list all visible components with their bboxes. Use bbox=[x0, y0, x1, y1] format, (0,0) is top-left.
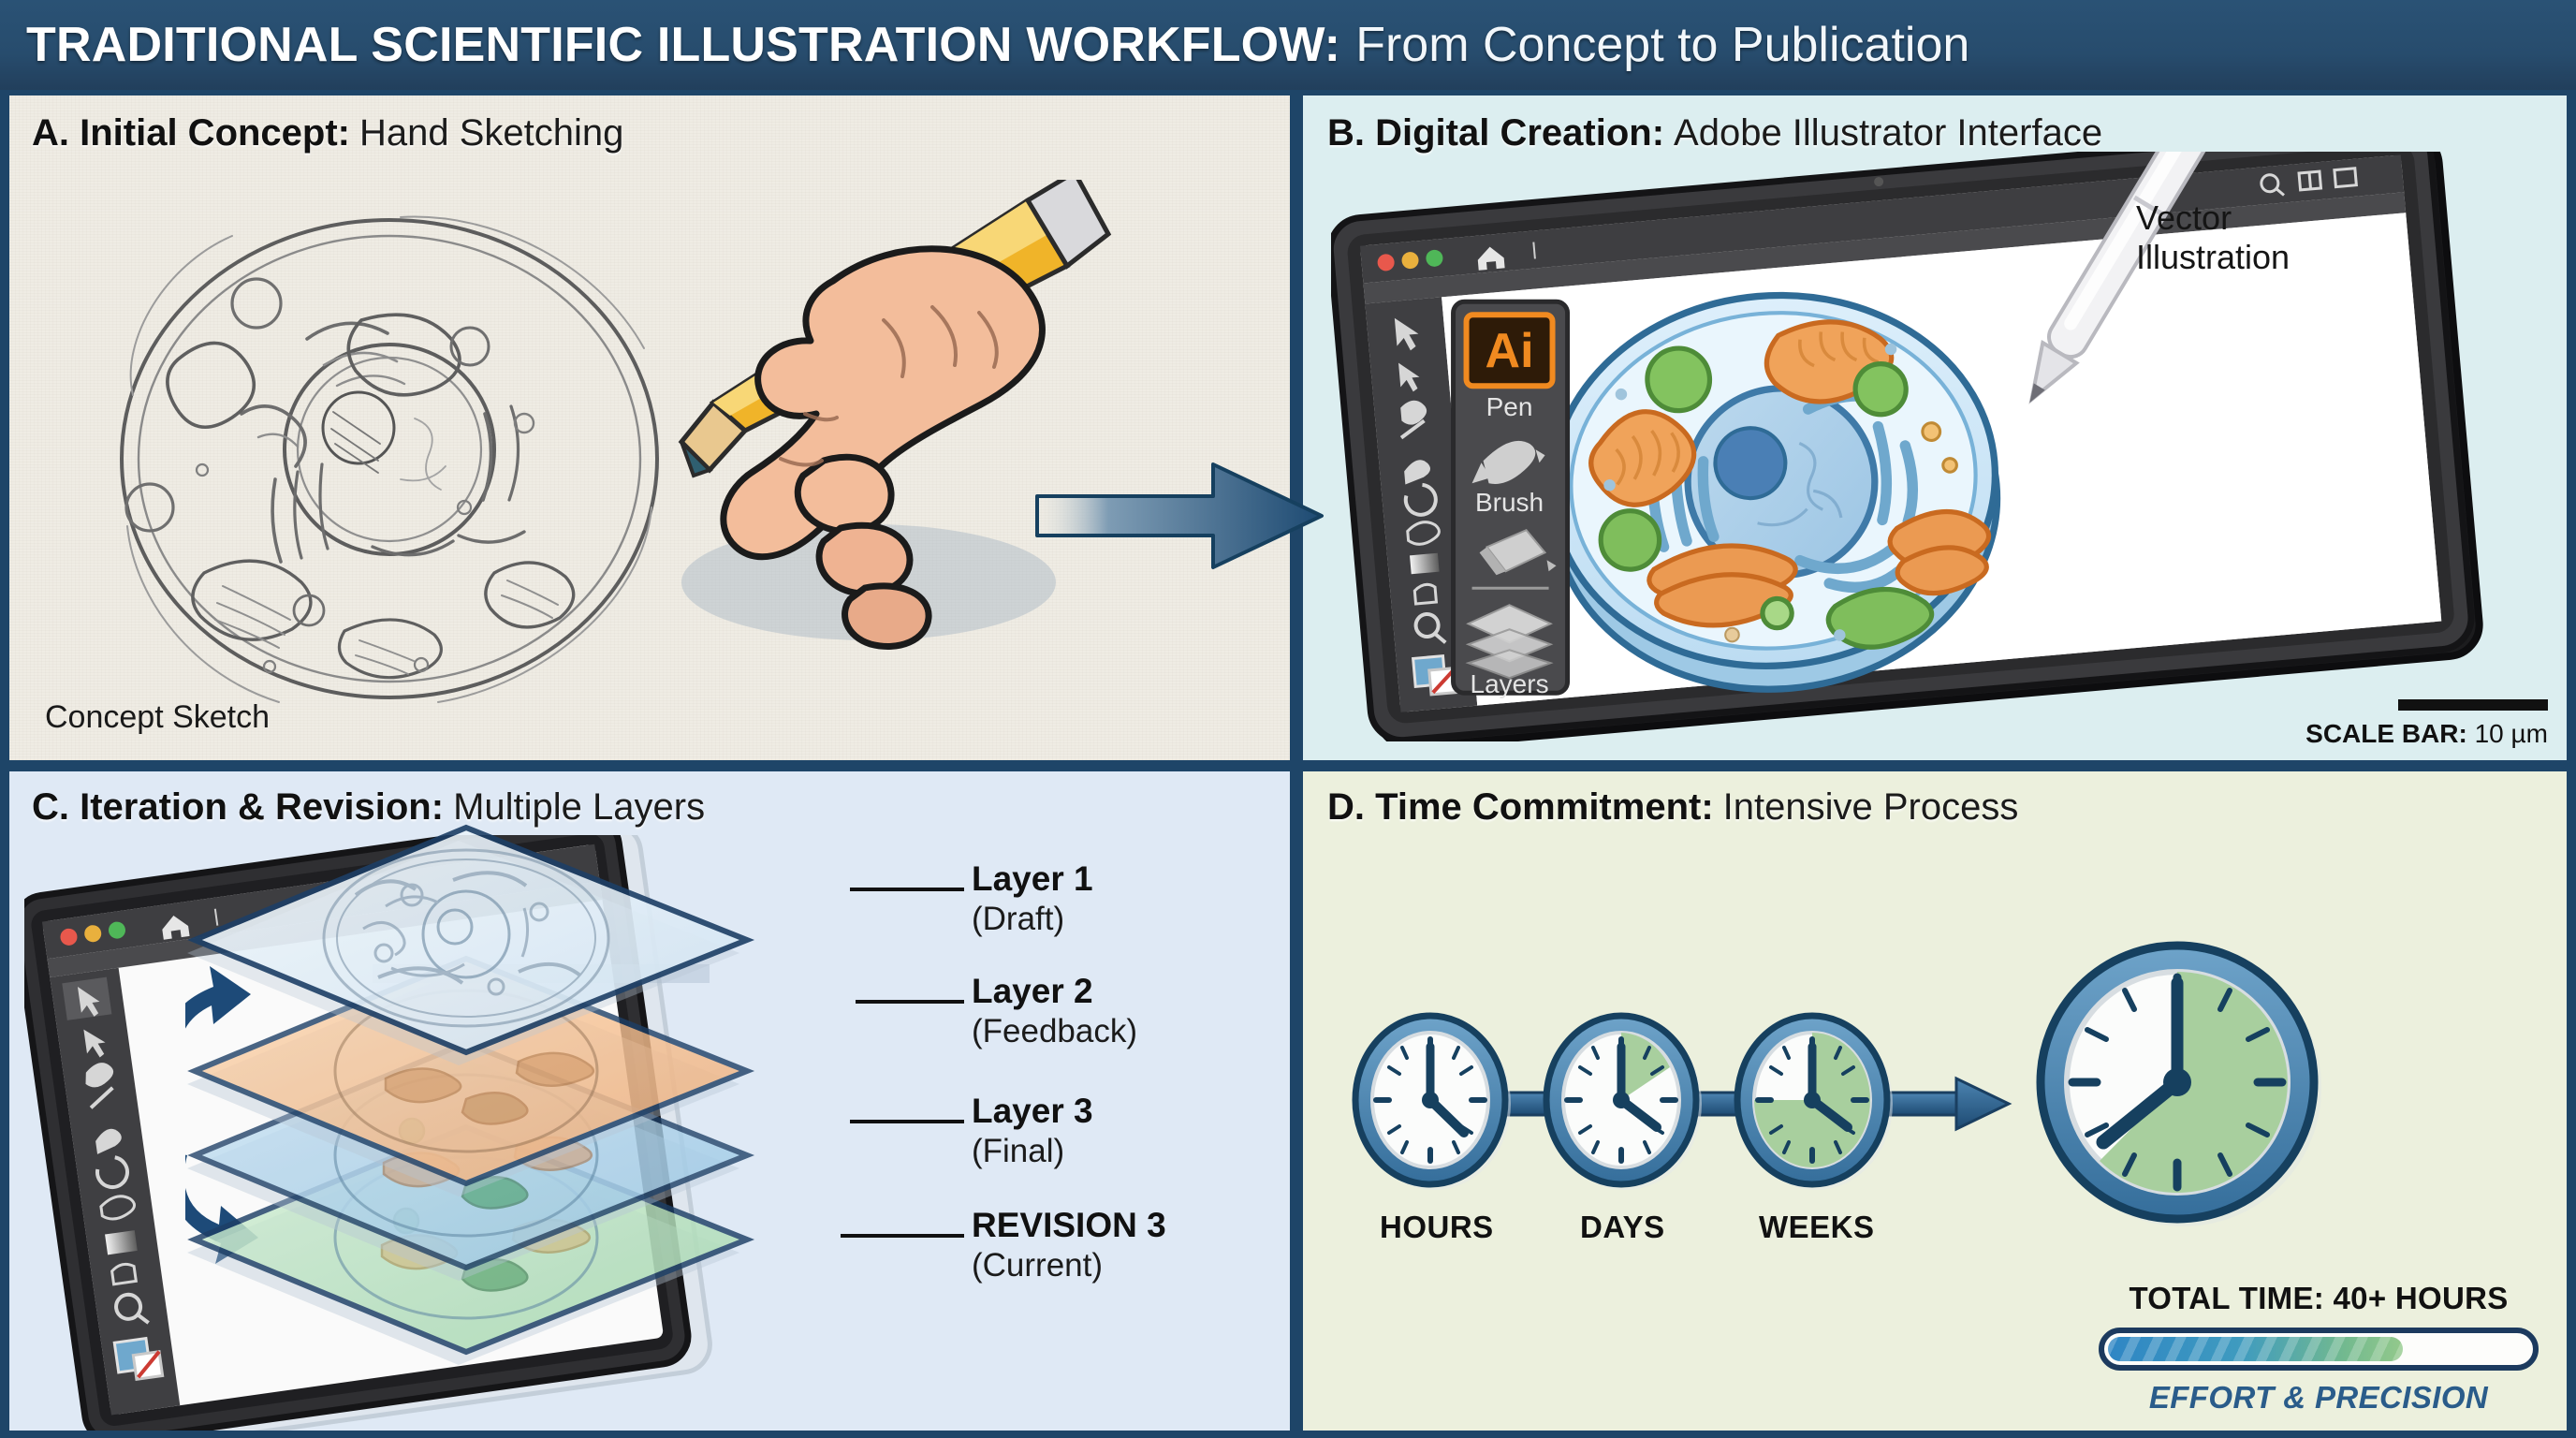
layer-2-name: Layer 2 bbox=[972, 972, 1137, 1011]
total-time-label: TOTAL TIME: 40+ HOURS bbox=[2099, 1281, 2539, 1316]
panel-grid: A. Initial Concept:Hand Sketching bbox=[0, 90, 2576, 1438]
frame-bottom bbox=[0, 1431, 2576, 1438]
layer-1-name: Layer 1 bbox=[972, 859, 1093, 899]
panel-c-heading: C. Iteration & Revision:Multiple Layers bbox=[32, 786, 705, 829]
panel-a-subtitle: Hand Sketching bbox=[359, 112, 623, 154]
layer-3-name: Layer 3 bbox=[972, 1092, 1093, 1131]
layer-2-state: (Feedback) bbox=[972, 1013, 1137, 1050]
svg-text:Ai: Ai bbox=[1486, 324, 1534, 378]
panel-c-iteration-revision: C. Iteration & Revision:Multiple Layers bbox=[7, 770, 1290, 1432]
clock-hours bbox=[1355, 1016, 1511, 1190]
layer-label-2: Layer 2 (Feedback) bbox=[972, 972, 1137, 1050]
panel-d-time-commitment: D. Time Commitment:Intensive Process bbox=[1303, 770, 2569, 1432]
panel-b-subtitle: Adobe Illustrator Interface bbox=[1674, 112, 2102, 154]
layer-4-state: (Current) bbox=[972, 1247, 1166, 1284]
tool-label-pen: Pen bbox=[1486, 392, 1533, 421]
panel-c-letter-title: C. Iteration & Revision: bbox=[32, 786, 444, 828]
frame-right bbox=[2567, 90, 2576, 1438]
clock-label-weeks: WEEKS bbox=[1759, 1210, 1875, 1245]
infographic-root: TRADITIONAL SCIENTIFIC ILLUSTRATION WORK… bbox=[0, 0, 2576, 1438]
clock-total bbox=[2041, 946, 2321, 1226]
layer-stack-diagram bbox=[185, 798, 859, 1416]
frame-left bbox=[0, 90, 9, 1438]
total-time-summary: TOTAL TIME: 40+ HOURS EFFORT & PRECISION bbox=[2099, 1281, 2539, 1416]
panel-d-letter-title: D. Time Commitment: bbox=[1327, 786, 1714, 828]
layer-diamond-1 bbox=[187, 828, 747, 1065]
tool-label-layers: Layers bbox=[1471, 669, 1549, 698]
workflow-arrow-a-to-b bbox=[1030, 455, 1329, 577]
scale-bar-text: SCALE BAR: 10 µm bbox=[2305, 719, 2548, 749]
scale-bar-label: SCALE BAR: bbox=[2305, 719, 2467, 748]
scale-bar-line bbox=[2398, 699, 2548, 711]
effort-progress-bar bbox=[2099, 1328, 2539, 1371]
layer-1-state: (Draft) bbox=[972, 901, 1093, 938]
vector-annotation-line2: Illustration bbox=[2136, 238, 2290, 276]
clock-label-days: DAYS bbox=[1580, 1210, 1665, 1245]
page-title-bold: TRADITIONAL SCIENTIFIC ILLUSTRATION WORK… bbox=[26, 17, 1340, 73]
scale-bar: SCALE BAR: 10 µm bbox=[2305, 699, 2548, 749]
scale-bar-value: 10 µm bbox=[2475, 719, 2548, 748]
layer-3-state: (Final) bbox=[972, 1133, 1093, 1170]
layer-label-1: Layer 1 (Draft) bbox=[972, 859, 1093, 938]
layer-label-3: Layer 3 (Final) bbox=[972, 1092, 1093, 1170]
layer-4-name: REVISION 3 bbox=[972, 1206, 1166, 1245]
panel-b-letter-title: B. Digital Creation: bbox=[1327, 112, 1664, 154]
tablet-device-illustrator: Ai Pen Brush bbox=[1331, 152, 2539, 741]
panel-divider-horizontal bbox=[0, 760, 2576, 771]
panel-c-subtitle: Multiple Layers bbox=[453, 786, 705, 828]
panel-b-heading: B. Digital Creation:Adobe Illustrator In… bbox=[1327, 112, 2102, 154]
vector-annotation-line1: Vector bbox=[2136, 198, 2232, 237]
panel-a-letter-title: A. Initial Concept: bbox=[32, 112, 350, 154]
illustrator-tool-panel: Ai Pen Brush bbox=[1454, 301, 1568, 698]
clock-weeks bbox=[1737, 1016, 1893, 1190]
panel-b-digital-creation: B. Digital Creation:Adobe Illustrator In… bbox=[1303, 95, 2569, 760]
clock-label-hours: HOURS bbox=[1380, 1210, 1494, 1245]
layer-label-4: REVISION 3 (Current) bbox=[972, 1206, 1166, 1284]
tool-label-brush: Brush bbox=[1475, 488, 1544, 517]
effort-progress-fill bbox=[2108, 1337, 2403, 1361]
page-title-normal: From Concept to Publication bbox=[1355, 17, 1969, 73]
effort-progress-caption: EFFORT & PRECISION bbox=[2099, 1380, 2539, 1416]
panel-d-subtitle: Intensive Process bbox=[1723, 786, 2019, 828]
clock-days bbox=[1546, 1016, 1702, 1190]
panel-d-heading: D. Time Commitment:Intensive Process bbox=[1327, 786, 2018, 829]
panel-a-initial-concept: A. Initial Concept:Hand Sketching bbox=[7, 95, 1290, 760]
layer-label-column: Layer 1 (Draft) Layer 2 (Feedback) Layer… bbox=[972, 770, 1281, 1432]
page-title-bar: TRADITIONAL SCIENTIFIC ILLUSTRATION WORK… bbox=[0, 0, 2576, 90]
panel-a-heading: A. Initial Concept:Hand Sketching bbox=[32, 112, 623, 154]
concept-sketch-caption: Concept Sketch bbox=[45, 699, 270, 736]
vector-illustration-annotation: Vector Illustration bbox=[2136, 198, 2290, 278]
